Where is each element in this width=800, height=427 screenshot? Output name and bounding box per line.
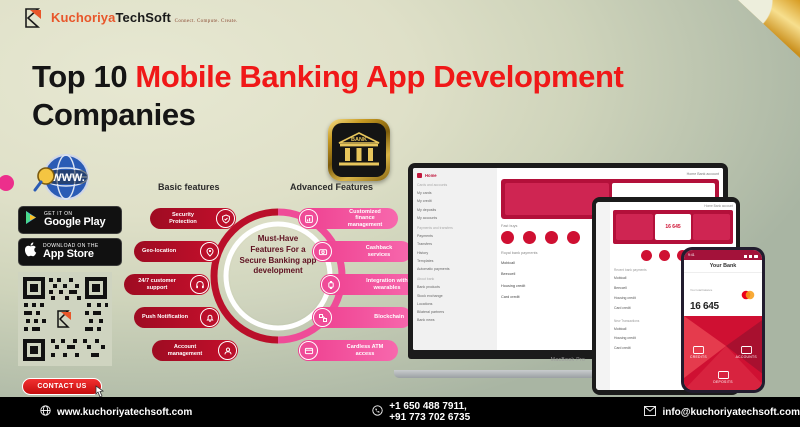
quick-action-icon[interactable] — [523, 231, 536, 244]
feature-label: Geo-location — [142, 248, 198, 254]
phone-status-bar: 9:41 — [684, 250, 762, 260]
location-pin-icon — [200, 242, 219, 261]
globe-www-label: WWW. — [51, 172, 85, 184]
phone-tile-label: CREDITS — [690, 355, 707, 359]
wearable-watch-icon — [321, 275, 340, 294]
laptop-sidebar-item[interactable]: Templates — [417, 257, 493, 265]
google-play-main: Google Play — [44, 217, 105, 229]
feature-pill-security-protection[interactable]: Security Protection — [150, 208, 236, 229]
home-icon — [417, 173, 422, 178]
app-store-main: App Store — [43, 249, 99, 261]
page-title: Top 10 Mobile Banking App Development Co… — [32, 58, 762, 134]
phone-tile-label: ACCOUNTS — [736, 355, 757, 359]
logo-name-second: TechSoft — [115, 10, 170, 25]
blockchain-icon — [313, 308, 332, 327]
bank-building-icon: BANK — [336, 130, 382, 170]
column-header-basic: Basic features — [158, 182, 220, 192]
center-line-2: Features For a — [250, 245, 305, 254]
laptop-account-menu[interactable]: Home Bank account — [501, 172, 719, 176]
tablet-account-menu[interactable]: Home Bank account — [610, 202, 736, 210]
logo-tagline: Connect. Compute. Create. — [175, 19, 238, 24]
center-line-3: Secure Banking app — [240, 256, 317, 265]
center-line-4: development — [253, 266, 302, 275]
quick-action-icon[interactable] — [501, 231, 514, 244]
apple-icon — [25, 242, 38, 262]
phone-status-time: 9:41 — [688, 253, 695, 257]
laptop-sidebar-item[interactable]: Locations — [417, 300, 493, 308]
laptop-sidebar-item[interactable]: My deposits — [417, 206, 493, 214]
user-account-icon — [218, 341, 237, 360]
quick-action-icon[interactable] — [659, 250, 670, 261]
bank-badge-inner: BANK — [332, 123, 386, 177]
footer-bar: www.kuchoriyatechsoft.com +1 650 488 791… — [0, 397, 800, 427]
laptop-sidebar-item[interactable]: My cards — [417, 189, 493, 197]
google-play-text: GET IT ON Google Play — [44, 212, 105, 229]
feature-label: Customized finance management — [318, 209, 390, 228]
feature-label: Cashback services — [332, 245, 404, 258]
phone-mockup: 9:41 Your Bank Your total balance 16 645 — [681, 247, 765, 393]
headline-part-1: Top 10 — [32, 59, 135, 94]
quick-action-icon[interactable] — [567, 231, 580, 244]
finance-chart-icon — [299, 209, 318, 228]
contact-us-button[interactable]: CONTACT US — [22, 378, 102, 395]
headline-part-2: Mobile Banking App Development — [135, 59, 623, 94]
feature-pill-push-notification[interactable]: Push Notification — [134, 307, 220, 328]
tablet-sidebar[interactable] — [596, 202, 610, 390]
laptop-sidebar-item[interactable]: My accounts — [417, 214, 493, 222]
device-mockups: Home Cards and accounts My cards My cred… — [396, 163, 800, 403]
phone-balance-row: Your total balance 16 645 — [684, 273, 762, 316]
laptop-sidebar-group-title: About bank — [417, 277, 493, 281]
footer-phone-text: +1 650 488 7911, +91 773 702 6735 — [389, 401, 479, 423]
laptop-sidebar-group-title: Payments and transfers — [417, 226, 493, 230]
feature-label: Cardless ATM access — [318, 344, 390, 357]
bank-badge: BANK — [328, 119, 390, 181]
laptop-sidebar-item[interactable]: My credit — [417, 197, 493, 205]
phone-status-icons — [744, 250, 758, 264]
center-line-1: Must-Have — [258, 234, 298, 243]
laptop-sidebar-item[interactable]: Payments — [417, 232, 493, 240]
quick-action-icon[interactable] — [545, 231, 558, 244]
bank-badge-label: BANK — [351, 137, 367, 143]
laptop-sidebar-item[interactable]: Stock exchange — [417, 292, 493, 300]
shield-icon — [216, 209, 235, 228]
footer-email-text: info@kuchoriyatechsoft.com — [662, 407, 800, 418]
phone-tile-deposits[interactable]: DEPOSITS — [684, 371, 762, 384]
phone-tile-credits[interactable]: CREDITS — [690, 346, 707, 359]
laptop-sidebar-item[interactable]: Automatic payments — [417, 265, 493, 273]
footer-email[interactable]: info@kuchoriyatechsoft.com — [644, 406, 800, 419]
phone-balance-label: Your total balance — [690, 288, 712, 292]
feature-pill-customized-finance-management[interactable]: Customized finance management — [298, 208, 398, 229]
feature-pill-cardless-atm-access[interactable]: Cardless ATM access — [298, 340, 398, 361]
app-store-text: Download on the App Store — [43, 244, 99, 261]
laptop-sidebar-item[interactable]: Bank products — [417, 283, 493, 291]
laptop-sidebar-item[interactable]: Transfers — [417, 240, 493, 248]
headset-support-icon — [190, 275, 209, 294]
cashback-icon — [313, 242, 332, 261]
phone-screen: 9:41 Your Bank Your total balance 16 645 — [684, 250, 762, 390]
globe-icon — [40, 405, 51, 419]
feature-pill-geo-location[interactable]: Geo-location — [134, 241, 220, 262]
laptop-sidebar-group-title: Cards and accounts — [417, 183, 493, 187]
logo-text-block: KuchoriyaTechSoft Connect. Compute. Crea… — [51, 10, 238, 26]
laptop-sidebar-item[interactable]: Bank news — [417, 316, 493, 324]
column-header-advanced: Advanced Features — [290, 182, 373, 192]
envelope-icon — [644, 406, 656, 419]
phone-tile-accounts[interactable]: ACCOUNTS — [736, 346, 757, 359]
laptop-sidebar-item[interactable]: History — [417, 249, 493, 257]
footer-website[interactable]: www.kuchoriyatechsoft.com — [40, 405, 192, 419]
pink-dot-decoration — [0, 175, 14, 191]
quick-action-icon[interactable] — [641, 250, 652, 261]
bell-notification-icon — [200, 308, 219, 327]
headline-part-3: Companies — [32, 97, 196, 132]
infographic: Basic features Advanced Features Must-Ha… — [130, 182, 420, 387]
phone-balance: 16 645 — [690, 301, 719, 312]
google-play-badge[interactable]: GET IT ON Google Play — [18, 206, 122, 234]
gold-corner-curl-decoration — [738, 0, 800, 58]
app-store-badge[interactable]: Download on the App Store — [18, 238, 122, 266]
logo-mark-icon — [24, 7, 46, 29]
qr-code[interactable] — [18, 272, 112, 366]
mastercard-icon — [740, 287, 756, 305]
banner-root: KuchoriyaTechSoft Connect. Compute. Crea… — [0, 0, 800, 427]
phone-icon — [372, 405, 383, 419]
www-globe-icon: WWW. — [24, 152, 102, 202]
footer-phone[interactable]: +1 650 488 7911, +91 773 702 6735 — [372, 401, 479, 423]
laptop-sidebar: Home Cards and accounts My cards My cred… — [413, 168, 497, 350]
phone-tile-label: DEPOSITS — [713, 380, 733, 384]
logo-name-first: Kuchoriya — [51, 10, 115, 25]
feature-pill-account-management[interactable]: Account management — [152, 340, 238, 361]
laptop-sidebar-item[interactable]: Bilateral partners — [417, 308, 493, 316]
phone-tile-grid: CREDITS ACCOUNTS DEPOSITS — [684, 316, 762, 390]
laptop-sidebar-active: Home — [425, 173, 437, 178]
tablet-balance: 16 645 — [665, 224, 680, 230]
laptop-sidebar-group-items[interactable]: My cards My credit My deposits My accoun… — [417, 189, 493, 222]
footer-website-text: www.kuchoriyatechsoft.com — [57, 407, 192, 418]
brand-logo[interactable]: KuchoriyaTechSoft Connect. Compute. Crea… — [24, 7, 238, 29]
atm-card-icon — [299, 341, 318, 360]
google-play-icon — [25, 210, 39, 230]
feature-pill-customer-support[interactable]: 24/7 customer support — [124, 274, 210, 295]
